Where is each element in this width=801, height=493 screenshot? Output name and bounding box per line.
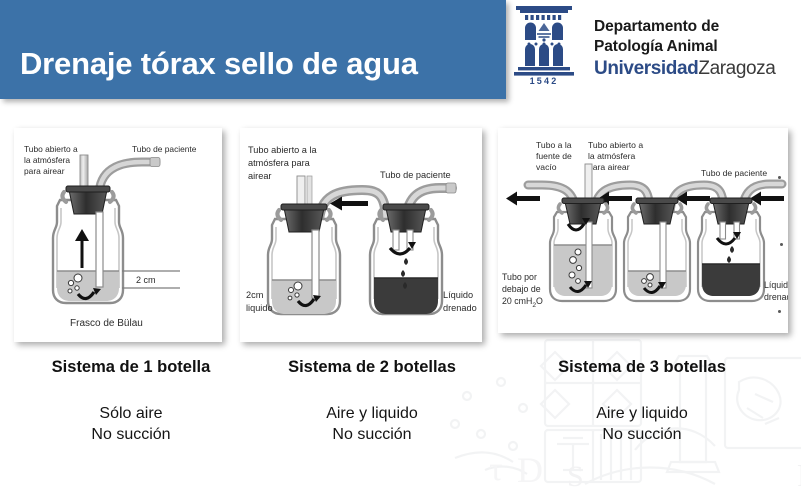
- svg-text:P: P: [797, 457, 801, 488]
- header-bar: Drenaje tórax sello de agua: [0, 0, 506, 99]
- label-water-seal-line1: 2cm: [246, 290, 264, 300]
- label-suction-line3: 20 cmH2O: [502, 296, 543, 309]
- page-title: Drenaje tórax sello de agua: [20, 46, 418, 82]
- caption-line2-1: No succión: [28, 424, 234, 445]
- label-suction-line1: Tubo por: [502, 272, 537, 282]
- decorative-dot-1: [778, 176, 781, 179]
- caption-line1-2: Aire y liquido: [254, 403, 490, 424]
- caption-title-1: Sistema de 1 botella: [28, 358, 234, 377]
- label-vent-tube-line1: Tubo abierto a: [588, 140, 643, 150]
- label-vacuum-line3: vacío: [536, 162, 557, 172]
- caption-title-3: Sistema de 3 botellas: [512, 358, 772, 377]
- label-vent-tube-line3: para airear: [588, 162, 630, 172]
- decorative-dot-2: [780, 243, 783, 246]
- logo-university-line: UniversidadZaragoza: [594, 57, 775, 81]
- university-logo: 1542 Departamento de Patología Animal Un…: [512, 4, 775, 92]
- label-vacuum-line1: Tubo a la: [536, 140, 572, 150]
- label-vent-tube-line2: la atmósfera: [24, 155, 70, 165]
- label-vent-tube-line3: para airear: [24, 166, 65, 176]
- label-vacuum-line2: fuente de: [536, 151, 572, 161]
- caption-title-2: Sistema de 2 botellas: [254, 358, 490, 377]
- label-suction-line2: debajo de: [502, 284, 541, 294]
- panel-sistema-2-botellas[interactable]: Tubo abierto a la atmósfera para airear …: [240, 128, 482, 342]
- label-vent-tube-line2: atmósfera para: [248, 158, 311, 168]
- logo-zaragoza-text: Zaragoza: [698, 58, 775, 79]
- label-patient-tube: Tubo de paciente: [701, 168, 767, 178]
- diagram-panels: Tubo abierto a la atmósfera para airear …: [0, 128, 801, 350]
- label-drained-line1: Líquido: [443, 290, 473, 300]
- label-vent-tube-line2: la atmósfera: [588, 151, 636, 161]
- label-frasco-de-bulau: Frasco de Bülau: [70, 318, 143, 329]
- label-drained-line1: Líquido: [764, 280, 788, 290]
- decorative-dot-3: [778, 310, 781, 313]
- label-vent-tube-line3: airear: [248, 171, 272, 181]
- svg-text:τ: τ: [489, 451, 503, 488]
- caption-sistema-3-botellas: Sistema de 3 botellas Aire y liquido No …: [512, 358, 772, 446]
- svg-text:D: D: [517, 450, 543, 488]
- label-vent-tube-line1: Tubo abierto a: [24, 144, 78, 154]
- label-drained-line2: drenado: [764, 292, 788, 302]
- label-drained-line2: drenado: [443, 303, 477, 313]
- label-vent-tube-line1: Tubo abierto a la: [248, 145, 318, 155]
- logo-department-line2: Patología Animal: [594, 37, 775, 57]
- caption-sistema-2-botellas: Sistema de 2 botellas Aire y liquido No …: [254, 358, 490, 446]
- caption-sistema-1-botella: Sistema de 1 botella Sólo aire No succió…: [28, 358, 234, 446]
- label-patient-tube: Tubo de paciente: [380, 170, 451, 180]
- label-water-seal-line2: liquido: [246, 303, 273, 313]
- university-building-icon: 1542: [512, 4, 576, 92]
- caption-line2-2: No succión: [254, 424, 490, 445]
- logo-department-line1: Departamento de: [594, 17, 775, 37]
- logo-year: 1542: [512, 76, 576, 86]
- panel-sistema-3-botellas[interactable]: Tubo a la fuente de vacío Tubo abierto a…: [498, 128, 788, 333]
- svg-text:S: S: [567, 460, 584, 488]
- caption-line1-1: Sólo aire: [28, 403, 234, 424]
- caption-line2-3: No succión: [512, 424, 772, 445]
- label-patient-tube: Tubo de paciente: [132, 144, 197, 154]
- label-depth-2cm: 2 cm: [136, 275, 156, 285]
- caption-line1-3: Aire y liquido: [512, 403, 772, 424]
- panel-sistema-1-botella[interactable]: Tubo abierto a la atmósfera para airear …: [14, 128, 222, 342]
- logo-universidad-text: Universidad: [594, 58, 698, 79]
